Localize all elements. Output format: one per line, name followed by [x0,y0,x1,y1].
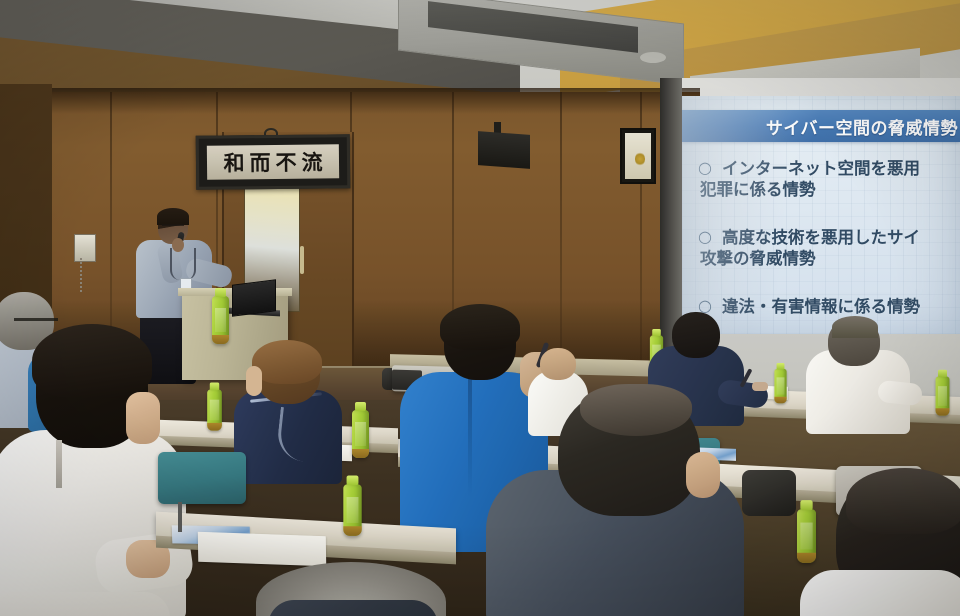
framed-picture-art [635,152,644,166]
projection-screen: サイバー空間の脅威情勢 ○ インターネット空間を悪用 犯罪に係る情勢 ○ 高度な… [682,96,960,334]
bottle-mid-center[interactable] [352,410,369,458]
bottle-right-front[interactable] [797,509,816,563]
chair-leg [178,502,182,532]
backpack [742,470,796,516]
attendee-glasses-icon [14,318,58,326]
presenter-lanyard [170,248,196,280]
presenter-hand [172,238,184,252]
framed-picture-mat [625,133,651,179]
screen-shadow [682,96,960,334]
plaque-char-3: 不 [275,151,296,172]
calligraphy-plaque: 和 而 不 流 [196,134,351,190]
wall-shadow-top [0,88,700,114]
bottle-back-right-1[interactable] [774,369,786,404]
plaque-char-1: 和 [223,152,244,173]
bottle-mid-left[interactable] [207,389,222,430]
door-handle[interactable] [300,246,304,274]
plaque-char-2: 而 [249,152,270,173]
framed-picture [620,128,656,184]
laptop-screen[interactable] [232,279,276,316]
lanyard-strap [56,440,62,488]
wall-phone-cord [80,258,91,292]
paper-sheet [198,532,327,566]
ceiling-smoke-detector-icon [640,52,666,63]
plaque-inner: 和 而 不 流 [207,144,339,179]
plaque-char-4: 流 [301,151,322,172]
seminar-room-photo: 和 而 不 流 サイバー空間の脅威情勢 ○ インターネット空間を悪用 犯罪に係る… [0,0,960,616]
ceiling-speaker-icon [478,131,530,169]
bottle-left-front[interactable] [343,484,361,536]
bottle-podium[interactable] [212,296,229,344]
bottle-back-right-2[interactable] [936,376,950,415]
presenter-glasses-icon [162,224,184,231]
chair[interactable] [158,452,246,504]
presenter-hair [157,208,189,225]
